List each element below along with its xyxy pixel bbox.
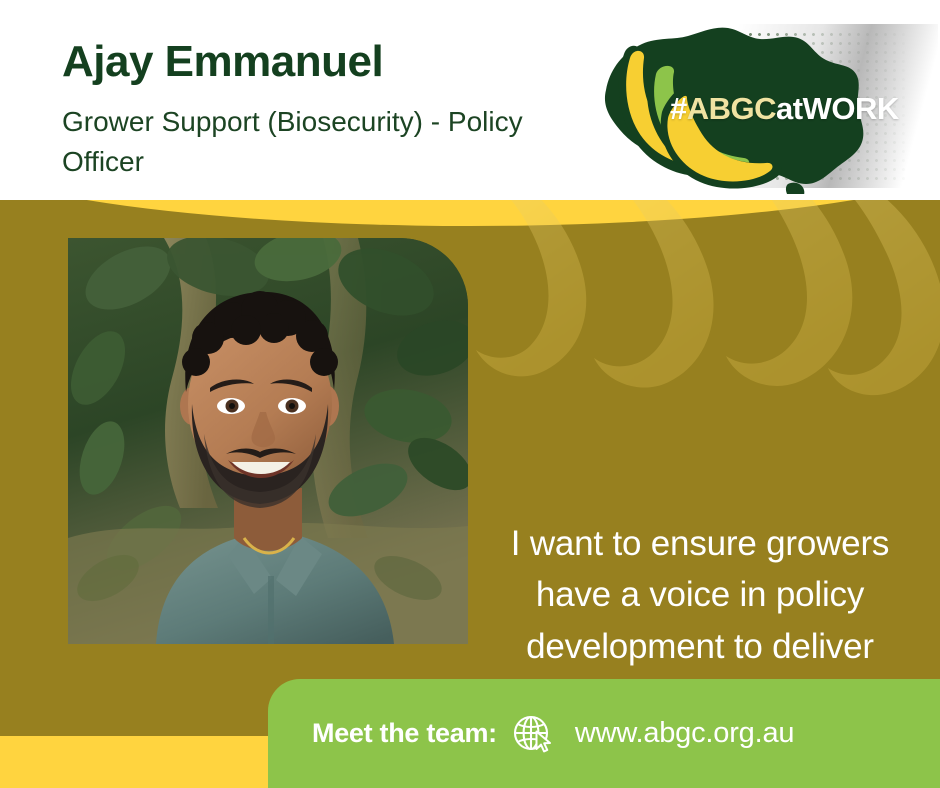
logo-brand-text: ABGC	[687, 91, 776, 126]
person-role: Grower Support (Biosecurity) - Policy Of…	[62, 102, 582, 182]
abgc-staff-profile-card: Ajay Emmanuel Grower Support (Biosecurit…	[0, 0, 940, 788]
logo-at-text: at	[776, 91, 803, 126]
globe-cursor-icon[interactable]	[511, 711, 555, 755]
website-url[interactable]: www.abgc.org.au	[575, 717, 794, 750]
logo-hash-symbol: #	[670, 91, 687, 126]
logo-work-text: WORK	[803, 91, 899, 126]
abgc-at-work-logo: #ABGCatWORK	[588, 18, 936, 194]
card-header: Ajay Emmanuel Grower Support (Biosecurit…	[0, 0, 940, 212]
meet-the-team-label: Meet the team:	[312, 718, 497, 749]
banana-watermark-decoration	[450, 200, 940, 504]
person-name: Ajay Emmanuel	[62, 38, 383, 86]
footer-content: Meet the team: www.abgc.org.au	[312, 707, 794, 759]
staff-portrait	[68, 238, 468, 644]
portrait-illustration	[68, 238, 468, 644]
logo-wordmark: #ABGCatWORK	[670, 91, 899, 127]
